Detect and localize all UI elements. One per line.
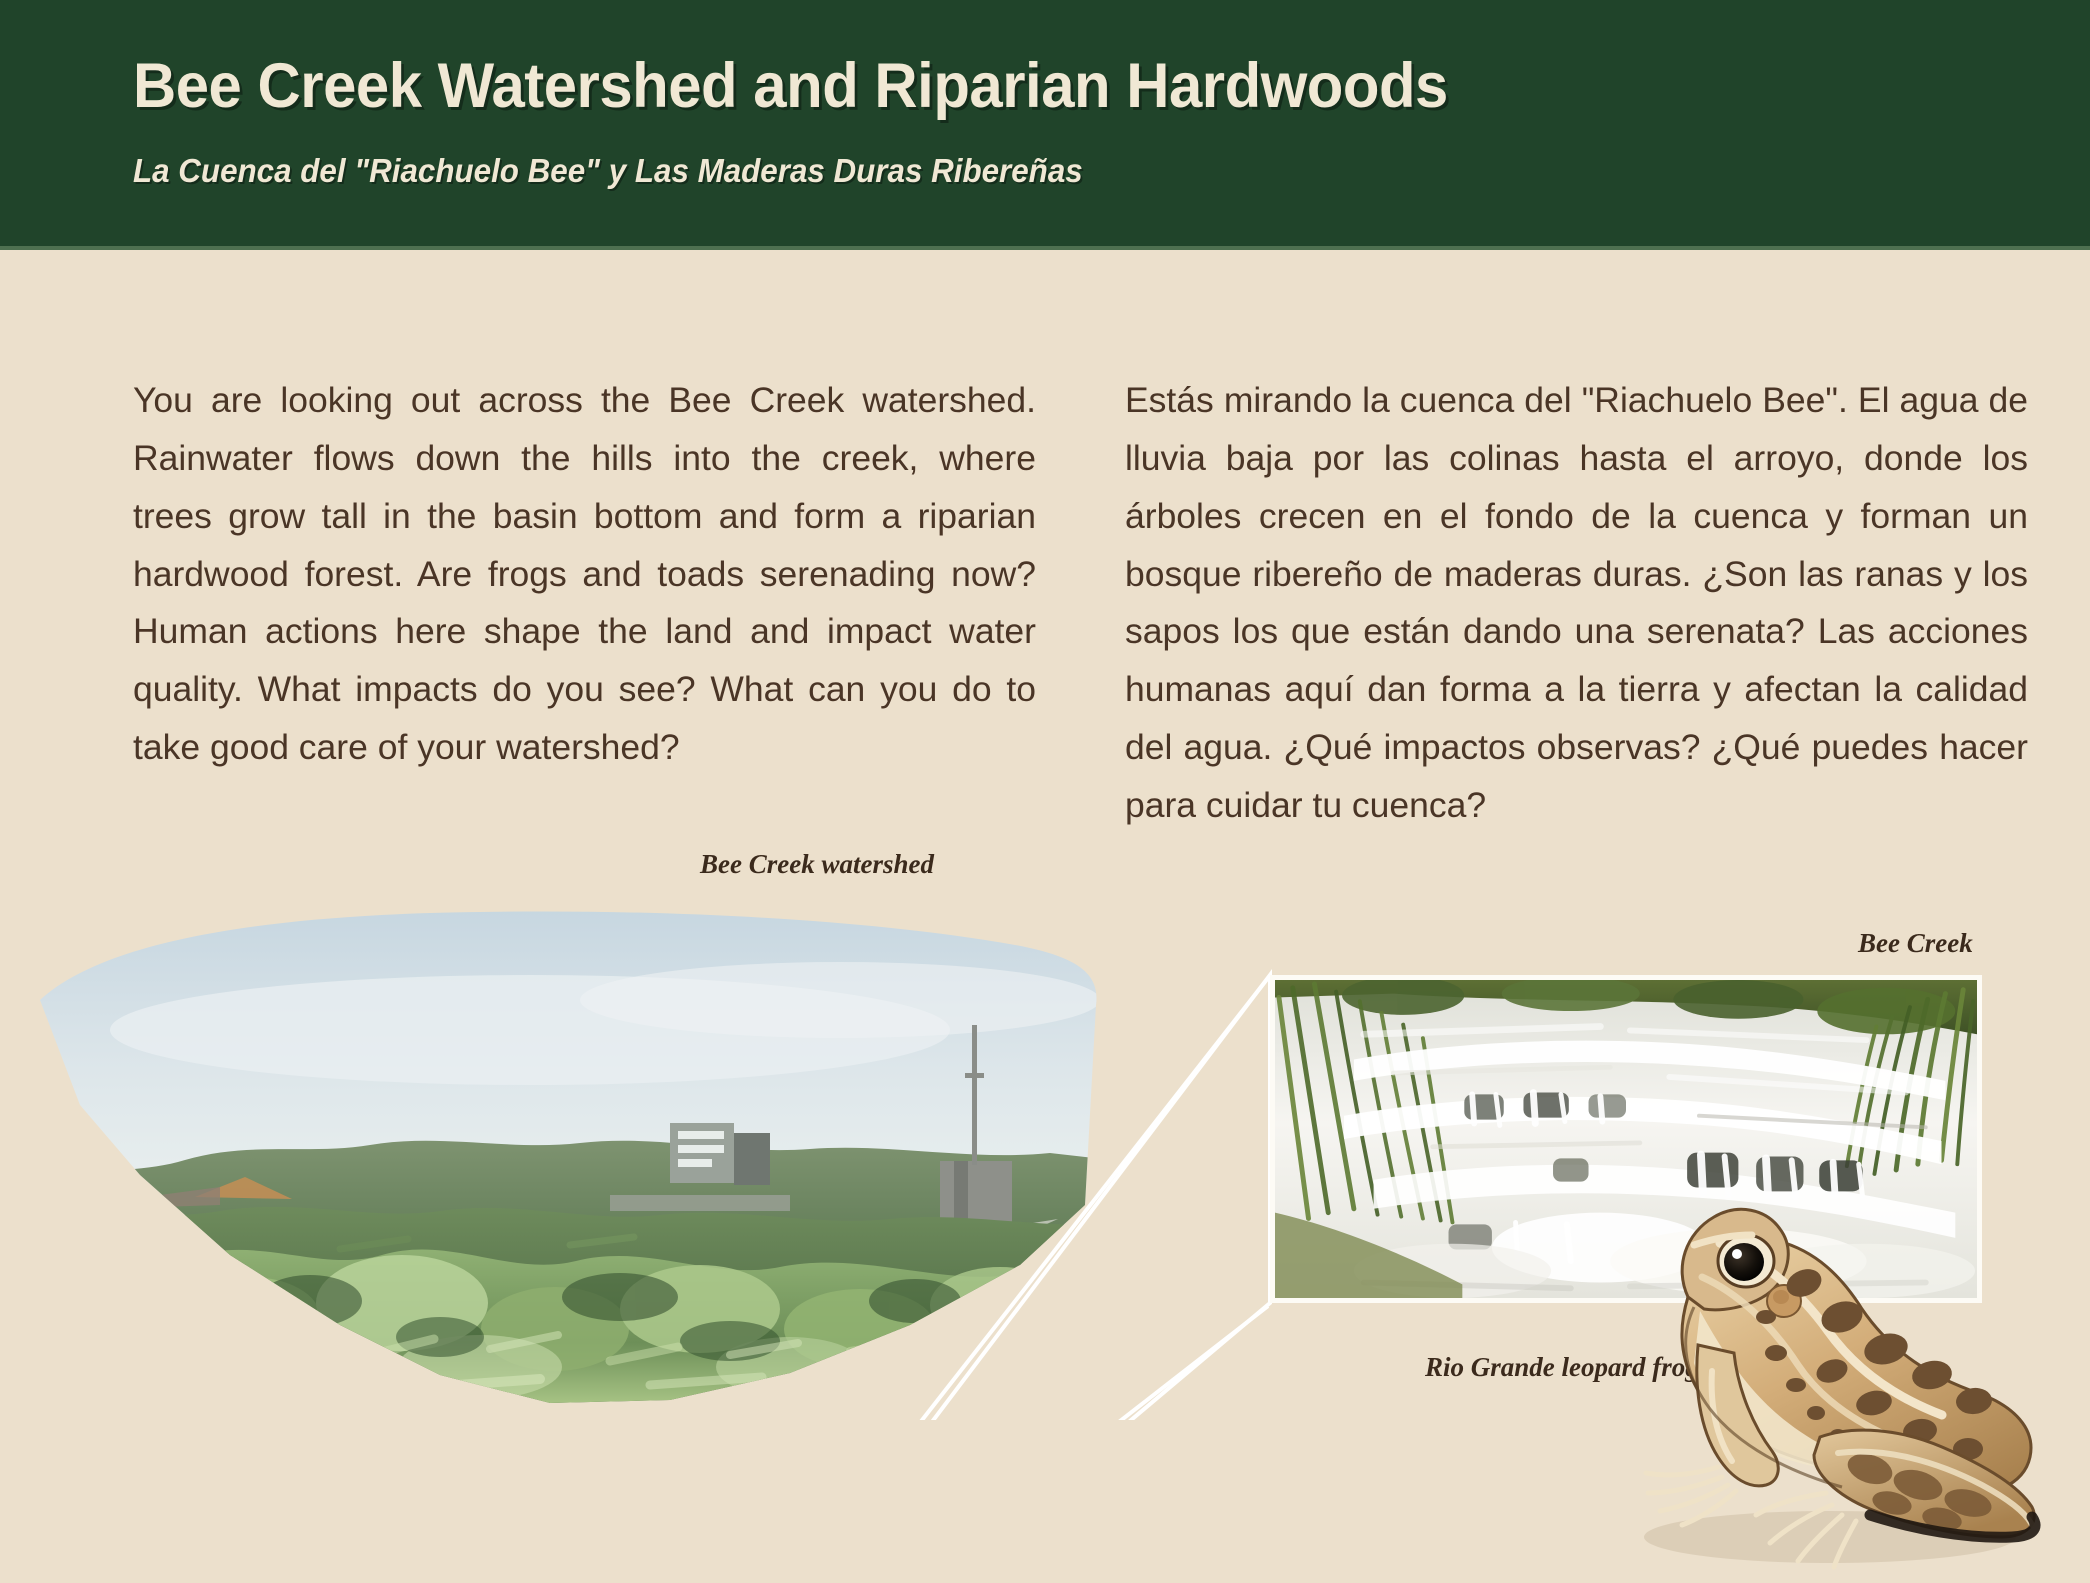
building-window-row <box>678 1159 712 1167</box>
watershed-landscape-svg <box>10 905 1120 1405</box>
rio-grande-leopard-frog-image <box>1570 1185 2070 1575</box>
watershed-landscape-image <box>10 905 1120 1405</box>
antenna-mast <box>972 1025 977 1165</box>
frog-svg <box>1570 1185 2070 1575</box>
building-window-row <box>678 1145 724 1153</box>
antenna-crossbar <box>965 1073 984 1078</box>
building-block-dark <box>734 1133 770 1185</box>
header-bar: Bee Creek Watershed and Riparian Hardwoo… <box>0 0 2090 250</box>
cloud-band-2 <box>580 962 1100 1038</box>
page-subtitle: La Cuenca del "Riachuelo Bee" y Las Made… <box>133 152 1083 190</box>
body-text-spanish: Estás mirando la cuenca del "Riachuelo B… <box>1125 372 2028 835</box>
building-window-row <box>678 1131 724 1139</box>
low-structure <box>610 1195 790 1211</box>
tower-shade <box>954 1161 968 1223</box>
caption-watershed: Bee Creek watershed <box>700 849 934 880</box>
landscape-clipped-group <box>10 905 1120 1405</box>
frog-eye-highlight <box>1732 1249 1742 1259</box>
page-title: Bee Creek Watershed and Riparian Hardwoo… <box>133 50 1448 122</box>
caption-bee-creek: Bee Creek <box>1858 928 1973 959</box>
frog-tympanum-center <box>1773 1290 1789 1304</box>
body-text-english: You are looking out across the Bee Creek… <box>133 372 1036 777</box>
tower-base <box>940 1161 1012 1223</box>
frog-eye-pupil <box>1724 1243 1764 1281</box>
